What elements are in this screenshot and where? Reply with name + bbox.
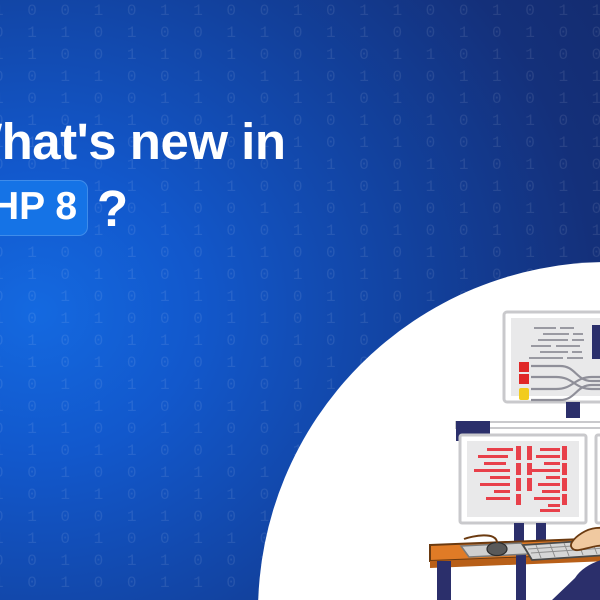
indicator-yellow [519,388,529,400]
indicator-red-1 [519,362,529,372]
banner-root: 1 0 0 1 0 1 1 0 0 1 0 1 1 0 0 1 0 1 1 0 … [0,0,600,600]
indicator-red-2 [519,374,529,384]
monitor-panel [592,325,600,359]
main-monitor [504,312,600,429]
developer-illustration [0,0,600,600]
mouse [487,543,507,556]
center-monitor [460,435,586,545]
desk-leg-left [437,561,451,600]
right-monitor [596,435,600,523]
